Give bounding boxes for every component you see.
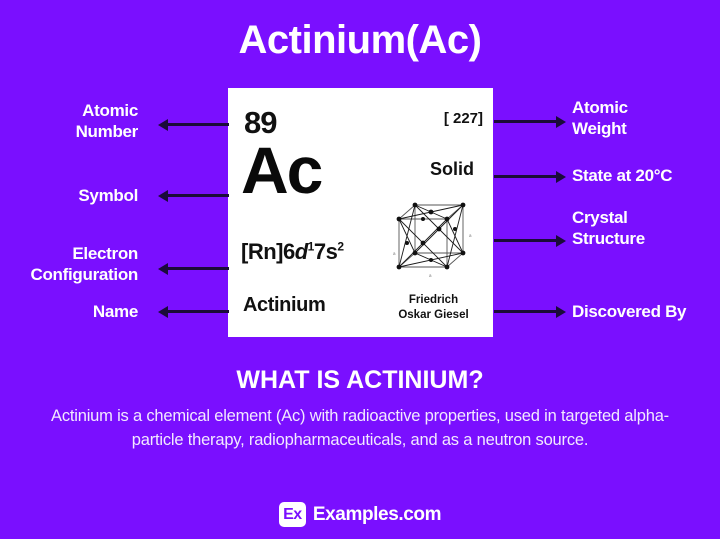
- face-centered-cubic-lattice-icon: a a a: [391, 197, 479, 289]
- arrowhead-right-icon: [556, 171, 566, 183]
- arrowhead-right-icon: [556, 235, 566, 247]
- discovered-by-value: Friedrich Oskar Giesel: [379, 293, 488, 324]
- label-crystal-structure-line1: Crystal: [572, 208, 628, 227]
- element-card-left-column: 89 Ac [Rn]6d17s2 Actinium: [229, 89, 381, 336]
- atomic-weight-value: [ 227]: [444, 110, 483, 127]
- econfig-orbital-s: 7s: [314, 239, 337, 264]
- label-electron-configuration: Electron Configuration: [30, 244, 138, 285]
- discoverer-first-name: Friedrich: [409, 294, 458, 306]
- arrow-name: [167, 310, 229, 313]
- label-name: Name: [93, 302, 138, 323]
- discoverer-last-name: Oskar Giesel: [398, 309, 468, 321]
- econfig-base: [Rn]6: [241, 239, 295, 264]
- label-discovered-by-line1: Discovered By: [572, 302, 686, 321]
- examples-logo-text: Examples.com: [313, 504, 441, 526]
- arrow-state-at-20c: [494, 175, 557, 178]
- arrow-electron-configuration: [167, 267, 229, 270]
- label-electron-configuration-line1: Electron: [72, 244, 138, 263]
- svg-text:a: a: [469, 233, 472, 238]
- section-heading: WHAT IS ACTINIUM?: [0, 366, 720, 395]
- label-crystal-structure: Crystal Structure: [572, 208, 645, 249]
- arrow-crystal-structure: [494, 239, 557, 242]
- label-atomic-number-line2: Number: [76, 122, 138, 141]
- arrow-discovered-by: [494, 310, 557, 313]
- arrow-symbol: [167, 194, 229, 197]
- arrowhead-left-icon: [158, 263, 168, 275]
- element-card: 89 Ac [Rn]6d17s2 Actinium [ 227] Solid: [228, 88, 493, 337]
- label-symbol-line1: Symbol: [78, 186, 138, 205]
- page-title: Actinium(Ac): [0, 18, 720, 63]
- econfig-sup-2: 2: [337, 240, 343, 254]
- label-atomic-weight-line1: Atomic: [572, 98, 628, 117]
- label-crystal-structure-line2: Structure: [572, 229, 645, 248]
- label-state-at-20c-line1: State at 20°C: [572, 166, 672, 185]
- element-symbol-value: Ac: [241, 137, 321, 203]
- svg-text:a: a: [393, 251, 396, 256]
- arrow-atomic-weight: [494, 120, 557, 123]
- arrowhead-left-icon: [158, 306, 168, 318]
- label-symbol: Symbol: [78, 186, 138, 207]
- label-atomic-weight: Atomic Weight: [572, 98, 628, 139]
- label-atomic-number: Atomic Number: [76, 101, 138, 142]
- svg-text:a: a: [429, 273, 432, 278]
- element-card-right-column: [ 227] Solid: [379, 89, 492, 336]
- state-value: Solid: [430, 159, 474, 180]
- arrowhead-right-icon: [556, 116, 566, 128]
- label-atomic-weight-line2: Weight: [572, 119, 627, 138]
- arrowhead-right-icon: [556, 306, 566, 318]
- footer-logo[interactable]: Ex Examples.com: [0, 502, 720, 527]
- element-description: Actinium is a chemical element (Ac) with…: [32, 405, 688, 453]
- label-atomic-number-line1: Atomic: [82, 101, 138, 120]
- arrowhead-left-icon: [158, 119, 168, 131]
- element-name-value: Actinium: [243, 294, 325, 317]
- econfig-orbital-d: d: [295, 239, 308, 264]
- label-name-line1: Name: [93, 302, 138, 321]
- examples-logo-icon: Ex: [279, 502, 306, 527]
- electron-configuration-value: [Rn]6d17s2: [241, 239, 344, 265]
- label-electron-configuration-line2: Configuration: [30, 265, 138, 284]
- arrow-atomic-number: [167, 123, 229, 126]
- arrowhead-left-icon: [158, 190, 168, 202]
- label-state-at-20c: State at 20°C: [572, 166, 672, 187]
- label-discovered-by: Discovered By: [572, 302, 686, 323]
